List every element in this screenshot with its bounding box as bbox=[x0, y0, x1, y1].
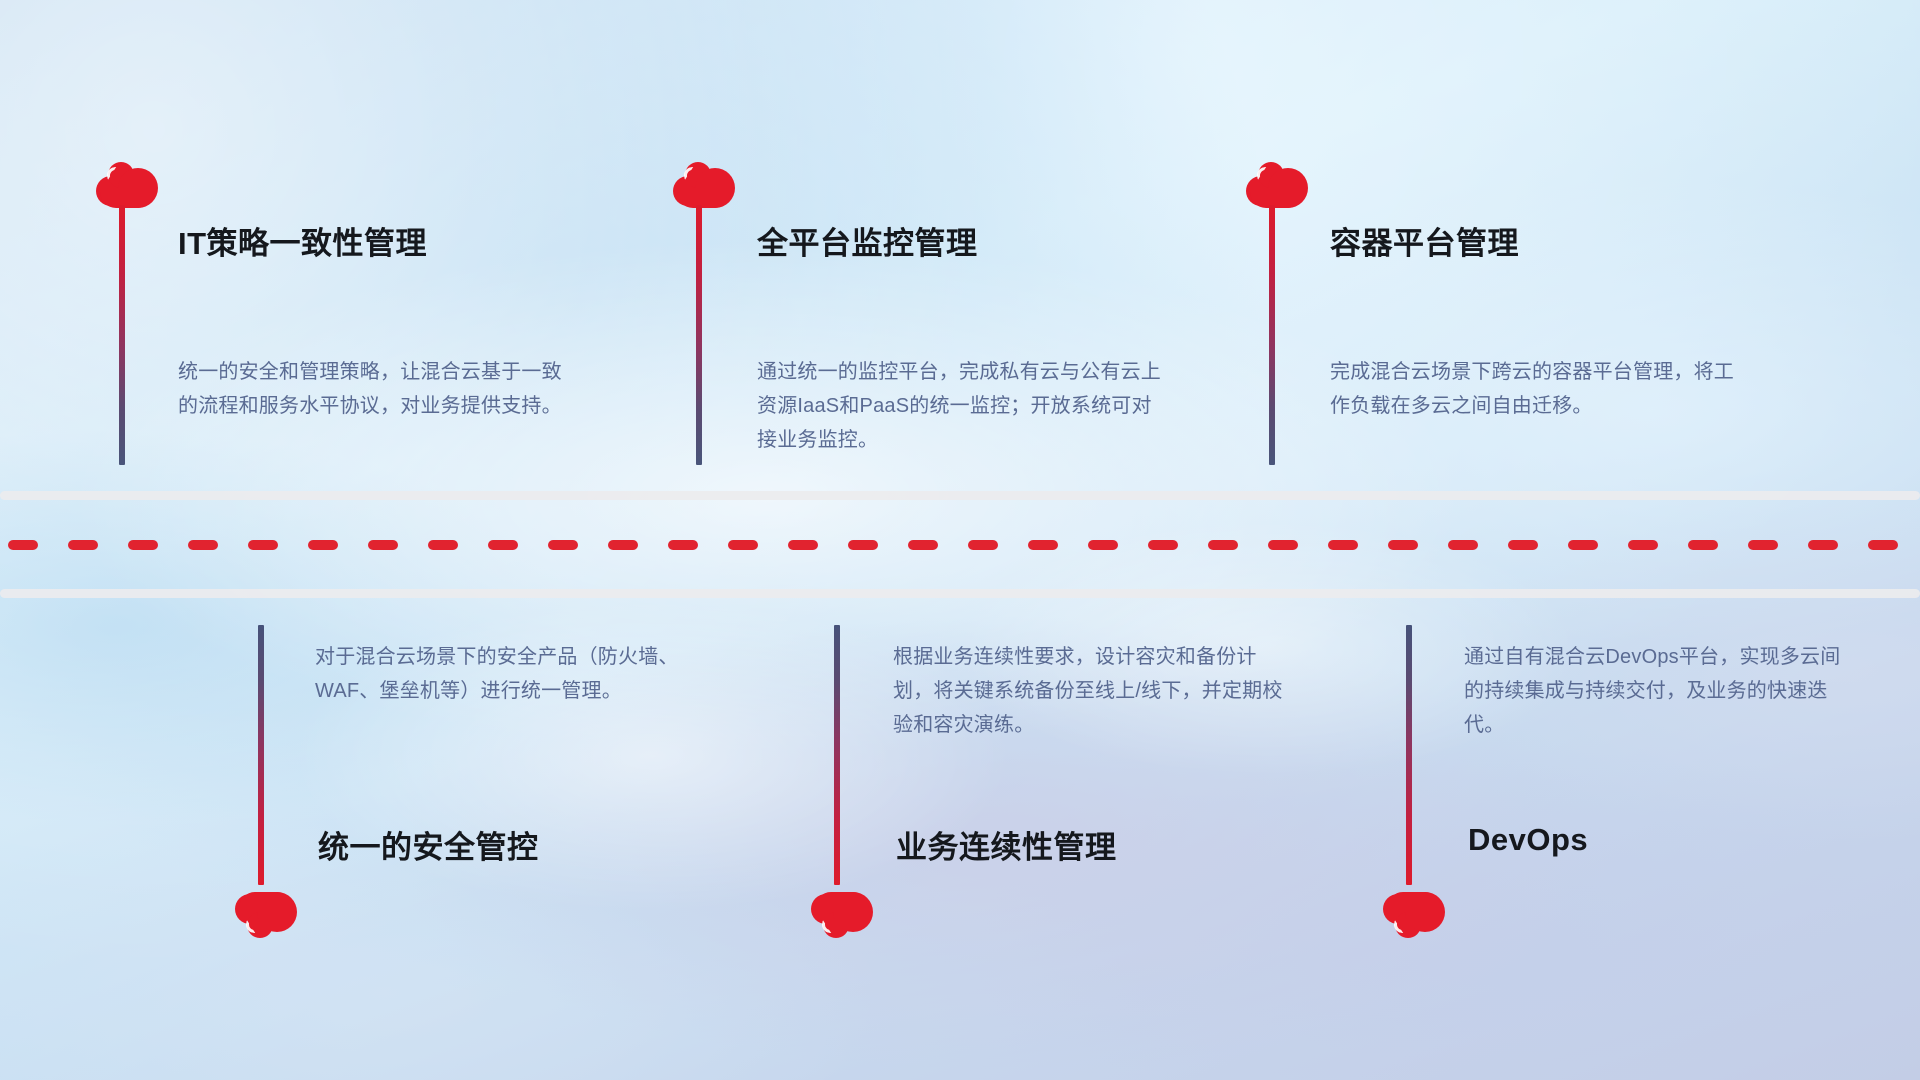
bottom-heading-1: 统一的安全管控 bbox=[318, 822, 539, 867]
bottom-heading-2: 业务连续性管理 bbox=[896, 822, 1117, 867]
cloud-base bbox=[1250, 188, 1304, 208]
connector-stem bbox=[1406, 625, 1412, 885]
road-dash bbox=[968, 540, 998, 550]
road-dash bbox=[68, 540, 98, 550]
road-dash bbox=[1028, 540, 1058, 550]
road-dash bbox=[8, 540, 38, 550]
road-dash bbox=[788, 540, 818, 550]
infographic-canvas: IT策略一致性管理 统一的安全和管理策略，让混合云基于一致的流程和服务水平协议，… bbox=[0, 0, 1920, 1080]
cloud-icon bbox=[1246, 162, 1308, 210]
cloud-icon bbox=[1383, 890, 1445, 938]
road-dashed-centerline bbox=[0, 540, 1920, 550]
road-dash bbox=[1688, 540, 1718, 550]
road-dash bbox=[1628, 540, 1658, 550]
road-dash bbox=[188, 540, 218, 550]
road-dash bbox=[248, 540, 278, 550]
road-dash bbox=[1448, 540, 1478, 550]
road-dash bbox=[1328, 540, 1358, 550]
road-dash bbox=[1568, 540, 1598, 550]
cloud-base bbox=[239, 892, 293, 912]
road-dash bbox=[908, 540, 938, 550]
top-heading-2: 全平台监控管理 bbox=[757, 218, 978, 263]
road-dash bbox=[1208, 540, 1238, 550]
road-dash bbox=[368, 540, 398, 550]
bottom-body-3: 通过自有混合云DevOps平台，实现多云间的持续集成与持续交付，及业务的快速迭代… bbox=[1464, 640, 1859, 742]
road-dash bbox=[1148, 540, 1178, 550]
cloud-base bbox=[1387, 892, 1441, 912]
cloud-icon bbox=[673, 162, 735, 210]
cloud-base bbox=[815, 892, 869, 912]
cloud-icon bbox=[96, 162, 158, 210]
road-dash bbox=[848, 540, 878, 550]
road-dash bbox=[1388, 540, 1418, 550]
road-dash bbox=[308, 540, 338, 550]
cloud-icon bbox=[235, 890, 297, 938]
cloud-icon bbox=[811, 890, 873, 938]
road-edge-bottom bbox=[0, 589, 1920, 598]
road-dash bbox=[1808, 540, 1838, 550]
bottom-heading-3: DevOps bbox=[1468, 822, 1588, 858]
connector-stem bbox=[696, 205, 702, 465]
cloud-base bbox=[677, 188, 731, 208]
cloud-base bbox=[100, 188, 154, 208]
connector-stem bbox=[258, 625, 264, 885]
road-dash bbox=[428, 540, 458, 550]
road-dash bbox=[1508, 540, 1538, 550]
road-dash bbox=[668, 540, 698, 550]
connector-stem bbox=[834, 625, 840, 885]
bottom-body-2: 根据业务连续性要求，设计容灾和备份计划，将关键系统备份至线上/线下，并定期校验和… bbox=[893, 640, 1288, 742]
road-dash bbox=[608, 540, 638, 550]
road-dash bbox=[548, 540, 578, 550]
top-heading-1: IT策略一致性管理 bbox=[178, 218, 427, 263]
top-body-1: 统一的安全和管理策略，让混合云基于一致的流程和服务水平协议，对业务提供支持。 bbox=[178, 355, 573, 423]
road-dash bbox=[1868, 540, 1898, 550]
connector-stem bbox=[1269, 205, 1275, 465]
top-body-3: 完成混合云场景下跨云的容器平台管理，将工作负载在多云之间自由迁移。 bbox=[1330, 355, 1740, 423]
road-dash bbox=[1088, 540, 1118, 550]
road-edge-top bbox=[0, 491, 1920, 500]
bottom-body-1: 对于混合云场景下的安全产品（防火墙、WAF、堡垒机等）进行统一管理。 bbox=[315, 640, 710, 708]
connector-stem bbox=[119, 205, 125, 465]
road-dash bbox=[728, 540, 758, 550]
road-dash bbox=[1748, 540, 1778, 550]
top-body-2: 通过统一的监控平台，完成私有云与公有云上资源IaaS和PaaS的统一监控；开放系… bbox=[757, 355, 1167, 457]
road-dash bbox=[128, 540, 158, 550]
road-dash bbox=[1268, 540, 1298, 550]
top-heading-3: 容器平台管理 bbox=[1330, 218, 1519, 263]
road-dash bbox=[488, 540, 518, 550]
